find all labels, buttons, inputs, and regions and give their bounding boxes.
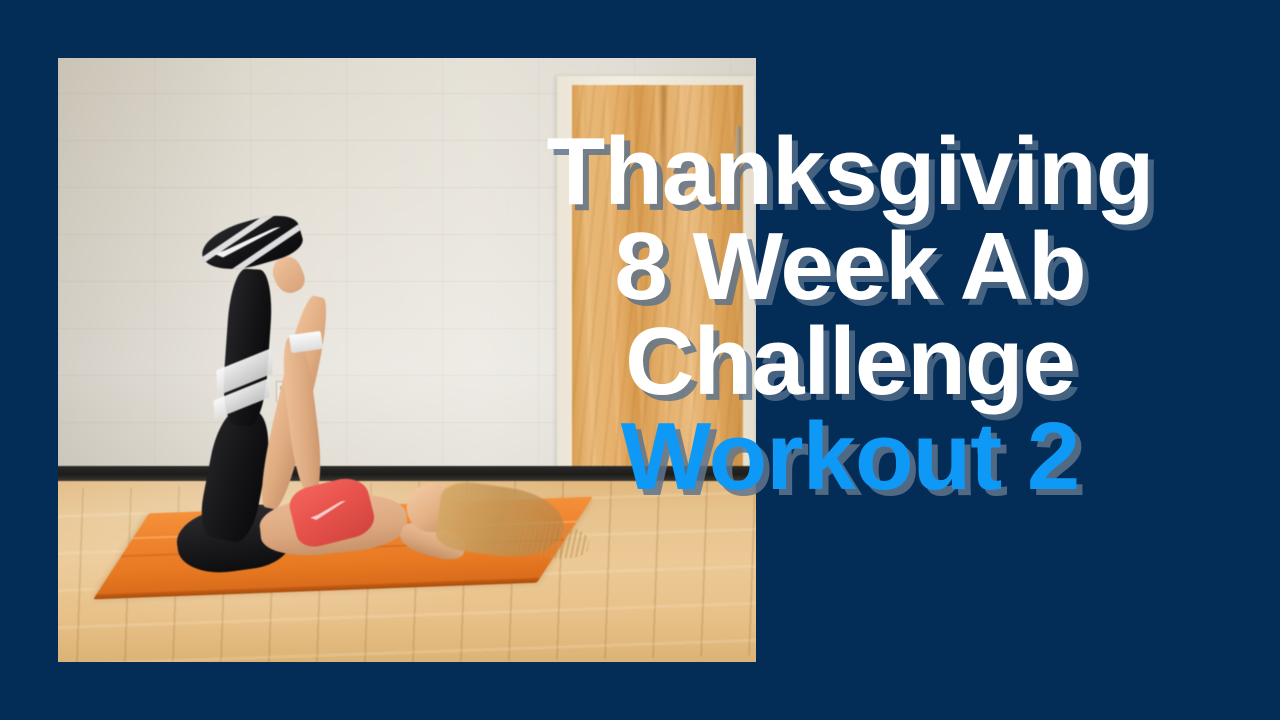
- thumbnail-canvas: Thanksgiving 8 Week Ab Challenge Workout…: [0, 0, 1280, 720]
- swoosh-icon: [308, 500, 348, 521]
- person-figure: [58, 58, 756, 662]
- workout-photo: [58, 58, 756, 662]
